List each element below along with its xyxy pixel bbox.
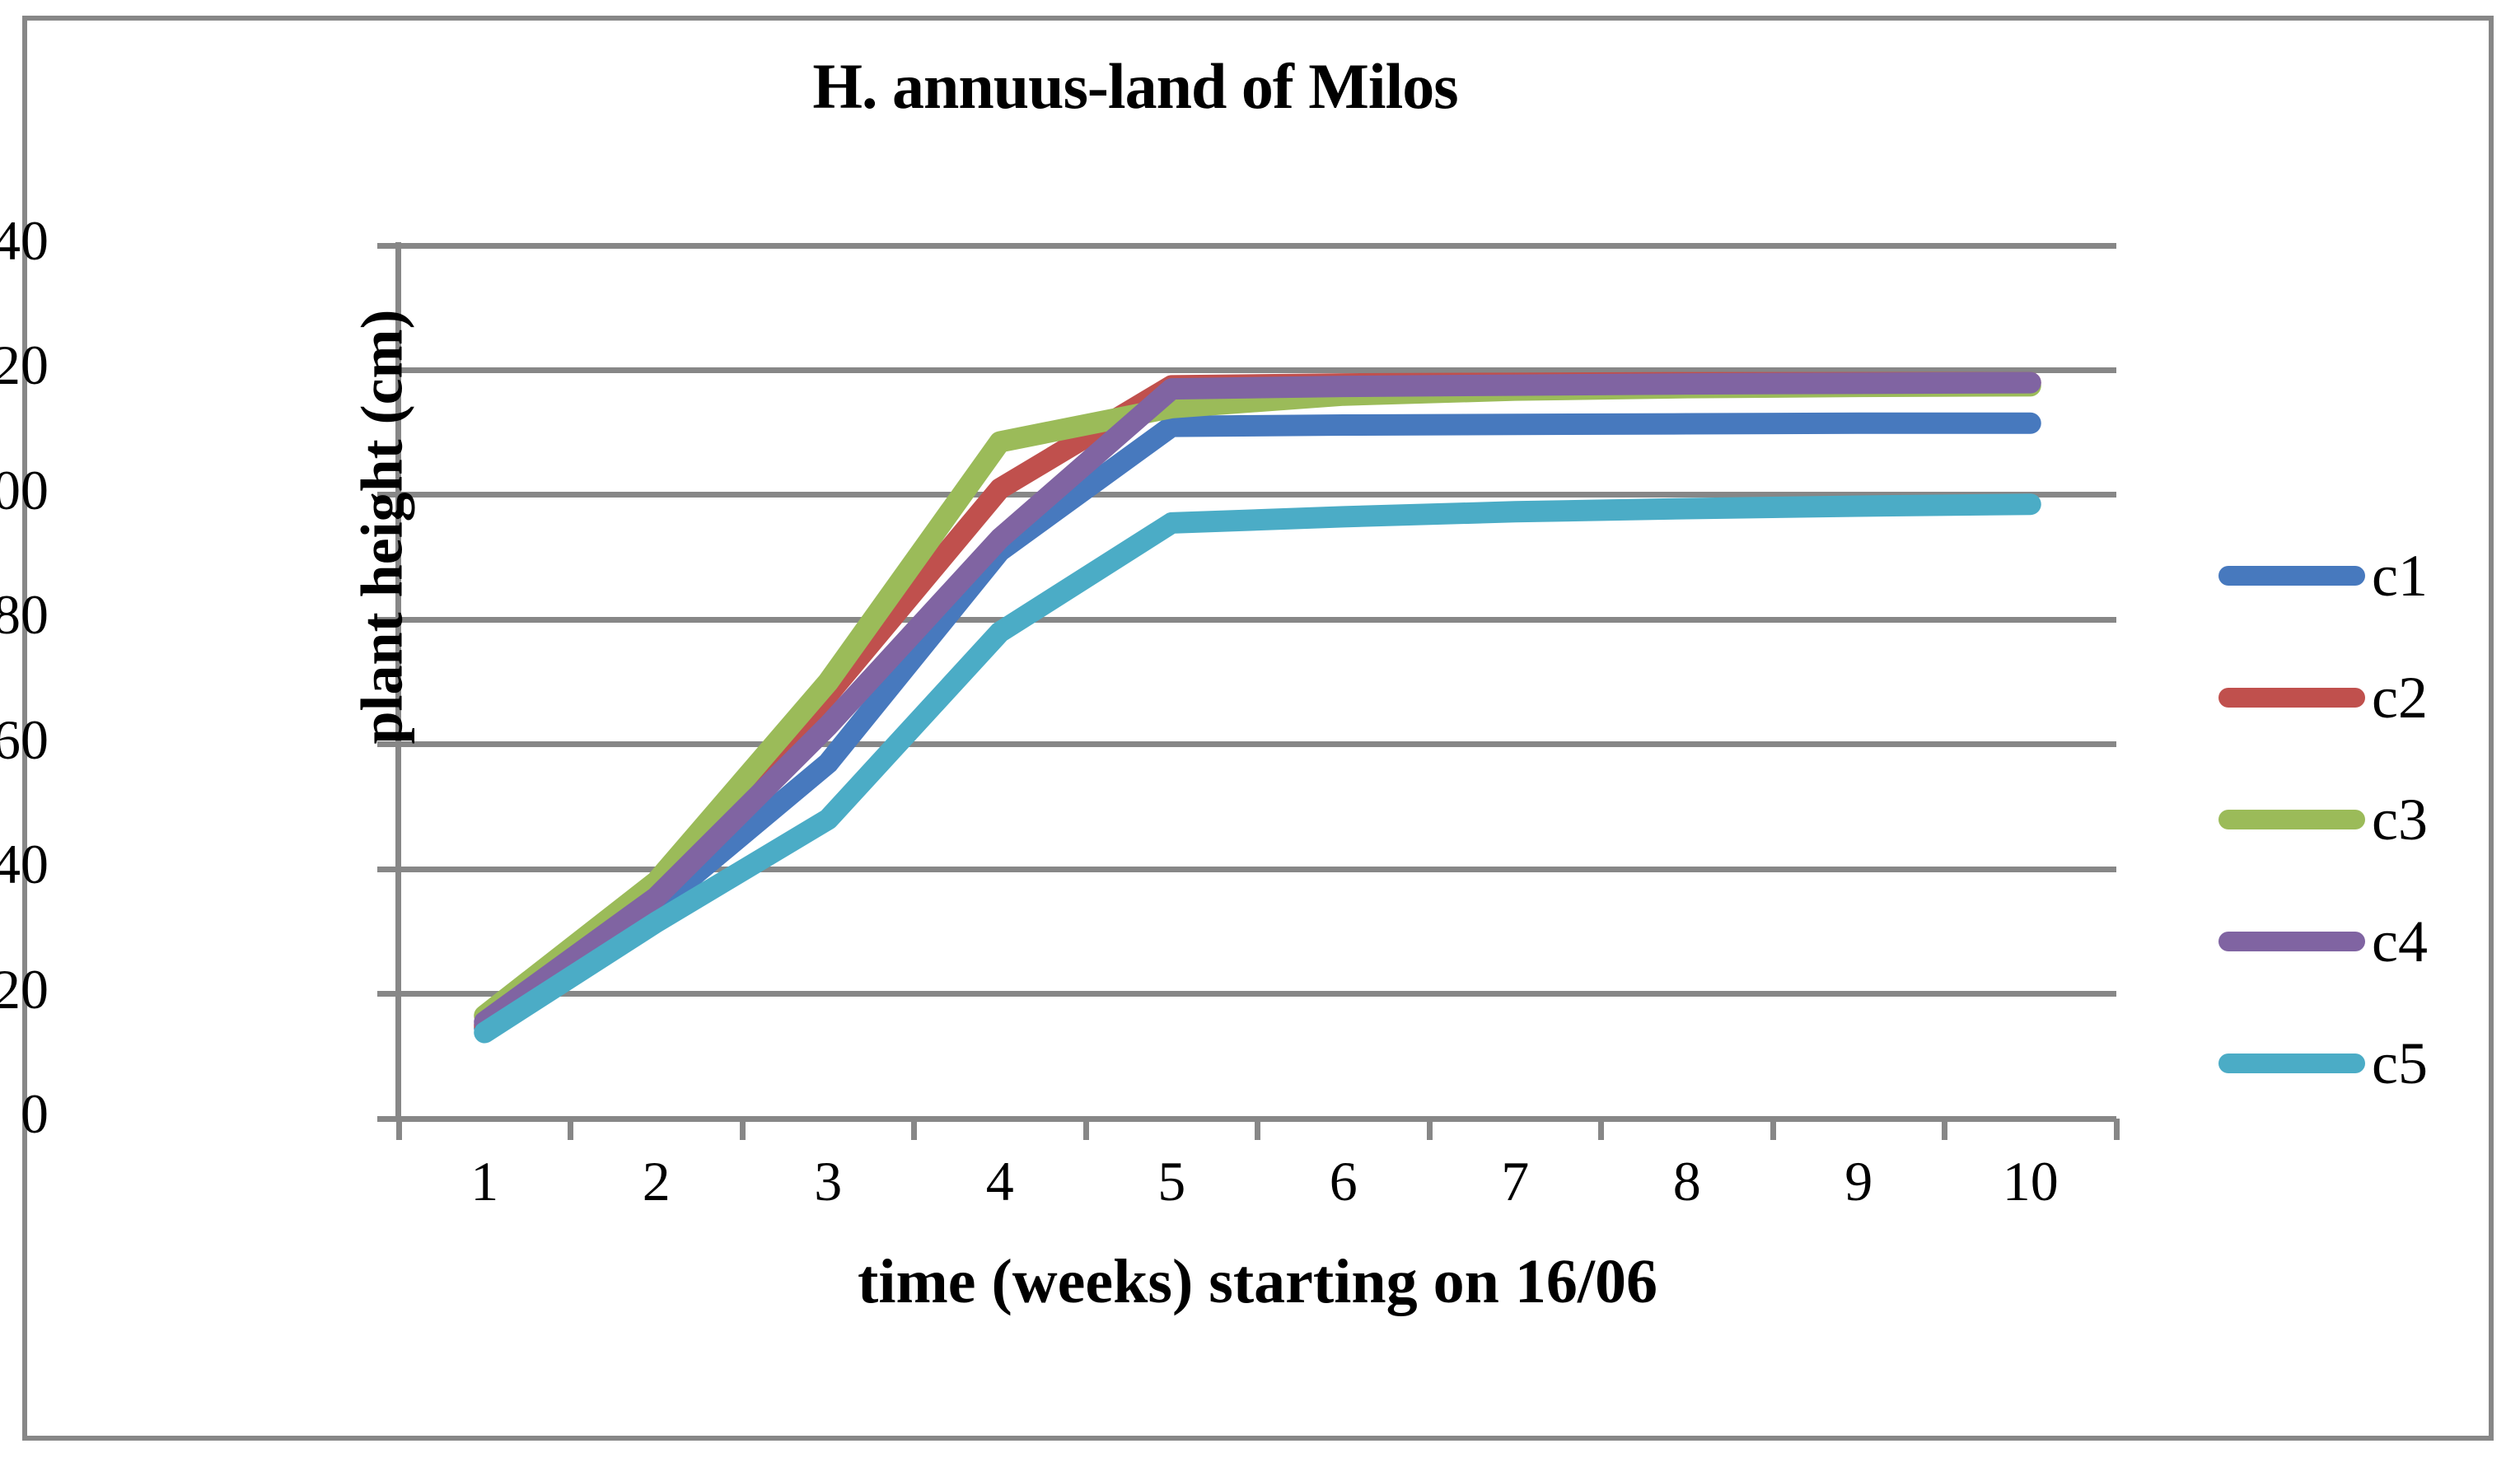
y-axis-tick-label: 140 (0, 213, 49, 269)
y-axis-tick (377, 867, 395, 872)
y-axis-tick-label: 60 (0, 712, 49, 768)
x-axis-tick (568, 1119, 573, 1140)
legend-item-c4[interactable]: c4 (2218, 881, 2466, 1002)
legend-item-c5[interactable]: c5 (2218, 1002, 2466, 1124)
x-axis-tick (1427, 1119, 1433, 1140)
y-axis-tick (377, 243, 395, 249)
chart-container: H. annuus-land of Milos 0204060801001201… (22, 16, 2494, 1441)
x-axis-tick (1942, 1119, 1947, 1140)
x-axis-tick (1770, 1119, 1776, 1140)
legend-label-c3: c3 (2372, 790, 2428, 849)
x-axis-tick-label: 5 (1106, 1153, 1237, 1209)
legend-swatch-c3 (2218, 810, 2365, 829)
x-axis-tick (2114, 1119, 2120, 1140)
legend-swatch-c1 (2218, 566, 2365, 586)
x-axis-tick-label: 1 (418, 1153, 550, 1209)
legend-label-c4: c4 (2372, 912, 2428, 971)
legend-label-c5: c5 (2372, 1034, 2428, 1093)
legend-swatch-c4 (2218, 932, 2365, 951)
y-axis-tick (377, 1116, 395, 1122)
legend-label-c2: c2 (2372, 668, 2428, 727)
series-line-c5 (484, 504, 2031, 1032)
legend-label-c1: c1 (2372, 546, 2428, 605)
y-axis-tick-label: 20 (0, 961, 49, 1017)
legend-item-c3[interactable]: c3 (2218, 759, 2466, 881)
x-axis-tick (911, 1119, 917, 1140)
y-axis-tick-label: 120 (0, 337, 49, 393)
x-axis-tick-label: 4 (934, 1153, 1066, 1209)
x-axis-tick-label: 6 (1278, 1153, 1410, 1209)
series-line-c2 (484, 383, 2031, 1025)
chart-legend: c1c2c3c4c5 (2218, 515, 2466, 1124)
y-axis-title: plant height (cm) (348, 272, 417, 783)
y-axis-tick-label: 40 (0, 836, 49, 892)
x-axis-title: time (weeks) starting on 16/06 (399, 1246, 2116, 1318)
x-axis-tick-label: 3 (762, 1153, 894, 1209)
legend-item-c2[interactable]: c2 (2218, 637, 2466, 759)
x-axis-tick (1083, 1119, 1089, 1140)
y-axis-tick-label: 100 (0, 462, 49, 518)
y-axis-tick-label: 0 (0, 1086, 49, 1142)
series-lines (399, 245, 2116, 1119)
legend-item-c1[interactable]: c1 (2218, 515, 2466, 637)
x-axis-tick-label: 10 (1965, 1153, 2097, 1209)
legend-swatch-c5 (2218, 1054, 2365, 1073)
x-axis-tick (396, 1119, 402, 1140)
x-axis-tick-label: 8 (1621, 1153, 1753, 1209)
x-axis-tick (1255, 1119, 1260, 1140)
x-axis-tick-label: 9 (1793, 1153, 1924, 1209)
plot-area: 020406080100120140 12345678910 plant hei… (399, 245, 2116, 1119)
chart-title: H. annuus-land of Milos (27, 49, 2243, 124)
y-axis-tick (377, 991, 395, 997)
x-axis-tick-label: 7 (1449, 1153, 1581, 1209)
legend-swatch-c2 (2218, 688, 2365, 708)
series-line-c3 (484, 385, 2031, 1016)
x-axis-tick-label: 2 (591, 1153, 722, 1209)
series-line-c4 (484, 383, 2031, 1022)
x-axis-tick (740, 1119, 746, 1140)
y-axis-tick-label: 80 (0, 586, 49, 642)
x-axis-tick (1598, 1119, 1604, 1140)
